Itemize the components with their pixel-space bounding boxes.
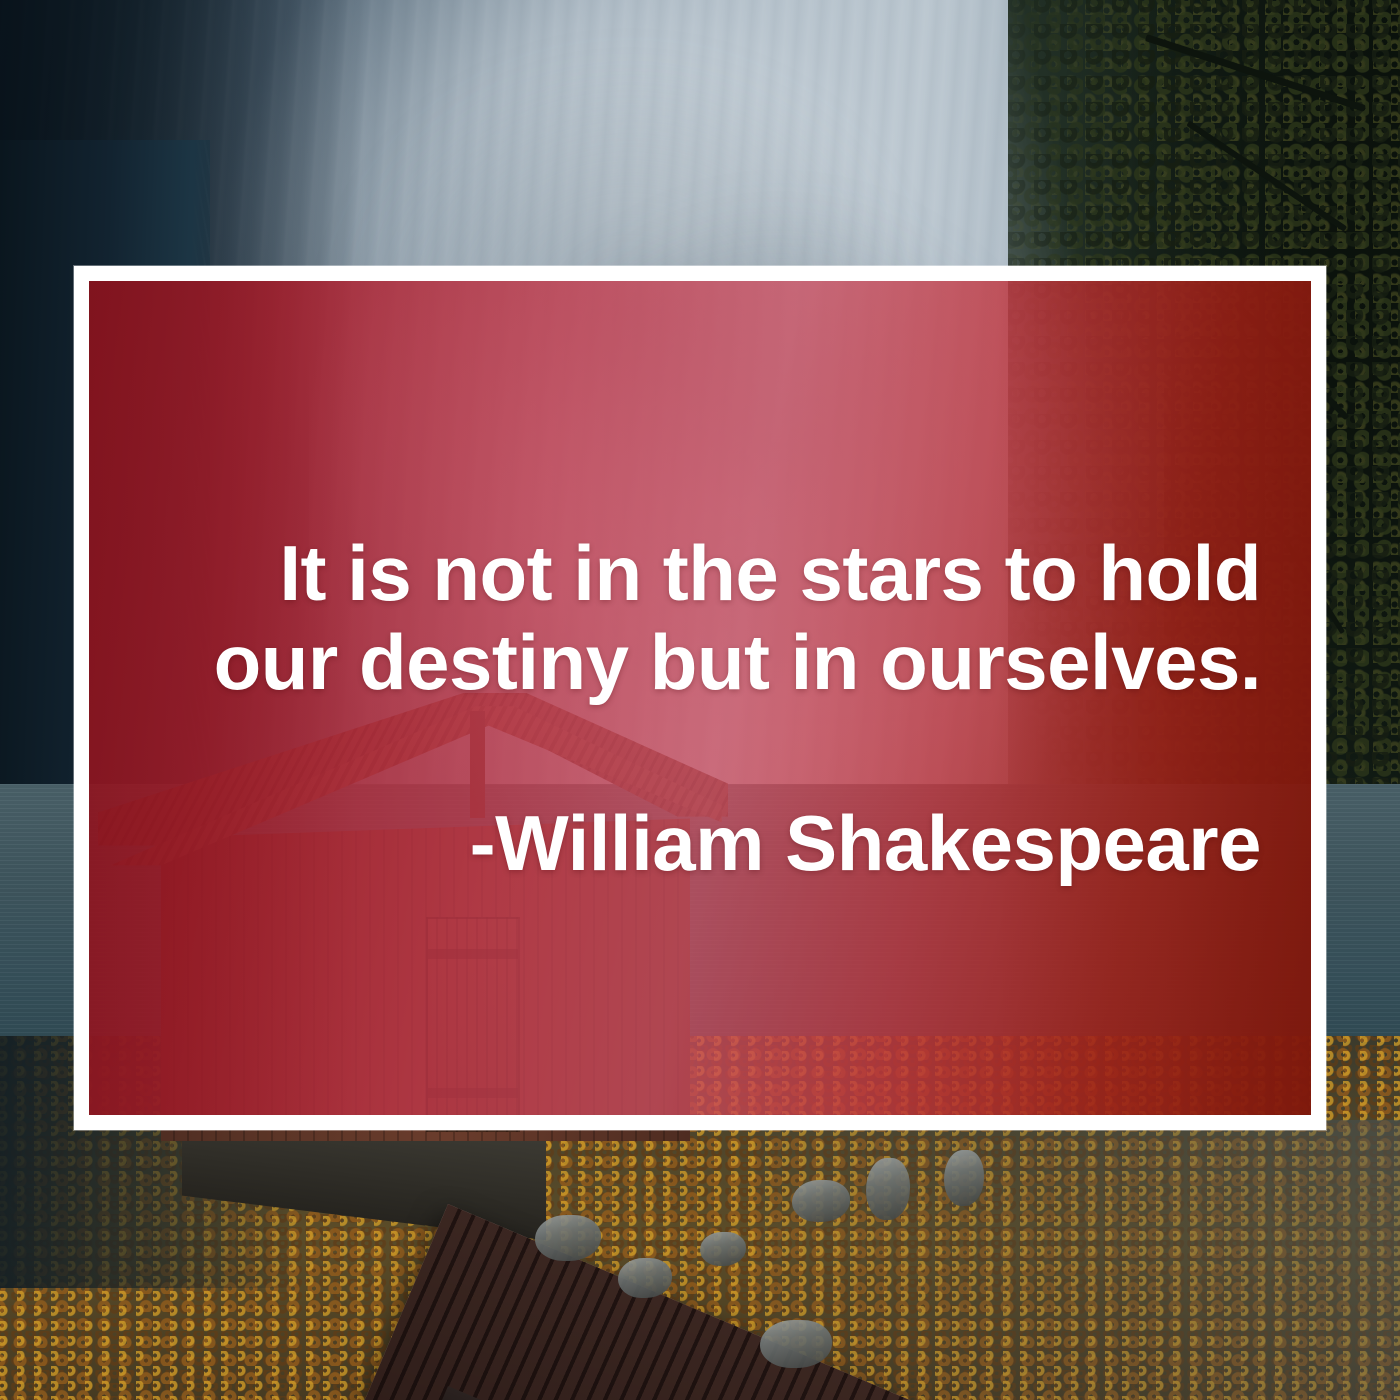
shore-rock-1	[535, 1215, 601, 1261]
shore-rock-7	[760, 1320, 832, 1368]
shore-rock-3	[700, 1232, 746, 1266]
shore-rock-2	[618, 1258, 672, 1298]
wet-shore-right	[756, 1120, 1400, 1400]
shore-rock-5	[866, 1158, 910, 1220]
shore-rock-6	[944, 1150, 984, 1206]
author-attribution: -William Shakespeare	[149, 801, 1261, 887]
quote-panel: It is not in the stars to hold our desti…	[89, 281, 1311, 1115]
quote-text: It is not in the stars to hold our desti…	[149, 529, 1261, 707]
quote-frame: It is not in the stars to hold our desti…	[74, 266, 1326, 1130]
quote-block: It is not in the stars to hold our desti…	[149, 529, 1261, 707]
shore-rock-4	[792, 1180, 850, 1222]
quote-card-canvas: It is not in the stars to hold our desti…	[0, 0, 1400, 1400]
